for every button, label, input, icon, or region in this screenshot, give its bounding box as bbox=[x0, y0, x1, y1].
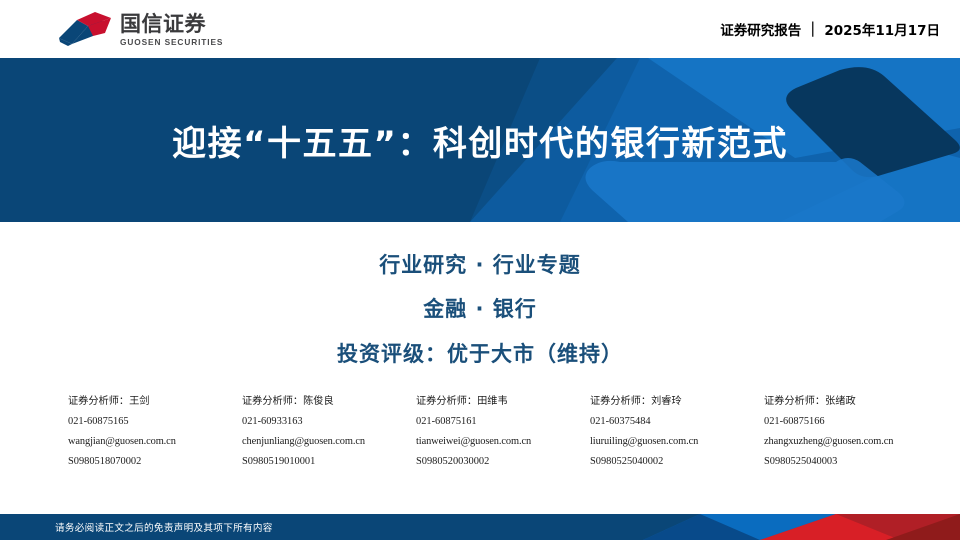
analyst-card: 证券分析师：刘睿玲 021-60375484 liuruiling@guosen… bbox=[590, 392, 764, 476]
analyst-email[interactable]: wangjian@guosen.com.cn bbox=[68, 436, 236, 447]
analyst-name: 证券分析师：王剑 bbox=[68, 392, 236, 407]
brand-name-en: GUOSEN SECURITIES bbox=[120, 38, 223, 46]
analyst-card: 证券分析师：王剑 021-60875165 wangjian@guosen.co… bbox=[68, 392, 242, 476]
analyst-phone: 021-60875165 bbox=[68, 416, 236, 427]
analyst-card: 证券分析师：田维韦 021-60875161 tianweiwei@guosen… bbox=[416, 392, 590, 476]
analyst-card: 证券分析师：陈俊良 021-60933163 chenjunliang@guos… bbox=[242, 392, 416, 476]
brand-name-cn: 国信证券 bbox=[120, 14, 223, 35]
page-header: 国信证券 GUOSEN SECURITIES 证券研究报告 | 2025年11月… bbox=[0, 0, 960, 58]
analyst-email[interactable]: tianweiwei@guosen.com.cn bbox=[416, 436, 584, 447]
page-footer: 请务必阅读正文之后的免责声明及其项下所有内容 bbox=[0, 514, 960, 540]
report-meta-block: 行业研究 · 行业专题 金融 · 银行 投资评级：优于大市（维持） bbox=[0, 222, 960, 368]
meta-industry-line: 行业研究 · 行业专题 bbox=[0, 249, 960, 279]
analyst-name: 证券分析师：陈俊良 bbox=[242, 392, 410, 407]
analyst-license: S0980525040003 bbox=[764, 456, 932, 467]
analyst-phone: 021-60933163 bbox=[242, 416, 410, 427]
report-date: 2025年11月17日 bbox=[824, 19, 940, 39]
header-divider: | bbox=[810, 19, 815, 37]
analyst-list: 证券分析师：王剑 021-60875165 wangjian@guosen.co… bbox=[0, 392, 960, 476]
analyst-license: S0980525040002 bbox=[590, 456, 758, 467]
meta-sector-line: 金融 · 银行 bbox=[0, 293, 960, 323]
analyst-email[interactable]: liuruiling@guosen.com.cn bbox=[590, 436, 758, 447]
analyst-phone: 021-60875161 bbox=[416, 416, 584, 427]
analyst-phone: 021-60375484 bbox=[590, 416, 758, 427]
report-type-label: 证券研究报告 bbox=[720, 19, 801, 39]
analyst-name: 证券分析师：刘睿玲 bbox=[590, 392, 758, 407]
analyst-phone: 021-60875166 bbox=[764, 416, 932, 427]
analyst-email[interactable]: zhangxuzheng@guosen.com.cn bbox=[764, 436, 932, 447]
analyst-name: 证券分析师：田维韦 bbox=[416, 392, 584, 407]
analyst-email[interactable]: chenjunliang@guosen.com.cn bbox=[242, 436, 410, 447]
analyst-name: 证券分析师：张绪政 bbox=[764, 392, 932, 407]
analyst-license: S0980520030002 bbox=[416, 456, 584, 467]
meta-rating-line: 投资评级：优于大市（维持） bbox=[0, 338, 960, 368]
header-report-info: 证券研究报告 | 2025年11月17日 bbox=[720, 0, 940, 58]
title-banner: 迎接“十五五”：科创时代的银行新范式 bbox=[0, 58, 960, 222]
brand-wordmark: 国信证券 GUOSEN SECURITIES bbox=[120, 14, 223, 46]
brand-logo: 国信证券 GUOSEN SECURITIES bbox=[57, 11, 223, 49]
analyst-license: S0980518070002 bbox=[68, 456, 236, 467]
analyst-license: S0980519010001 bbox=[242, 456, 410, 467]
analyst-card: 证券分析师：张绪政 021-60875166 zhangxuzheng@guos… bbox=[764, 392, 938, 476]
guosen-diamond-logo-icon bbox=[57, 11, 113, 49]
report-cover-page: 国信证券 GUOSEN SECURITIES 证券研究报告 | 2025年11月… bbox=[0, 0, 960, 540]
footer-disclaimer: 请务必阅读正文之后的免责声明及其项下所有内容 bbox=[55, 514, 273, 540]
report-title: 迎接“十五五”：科创时代的银行新范式 bbox=[0, 58, 960, 222]
